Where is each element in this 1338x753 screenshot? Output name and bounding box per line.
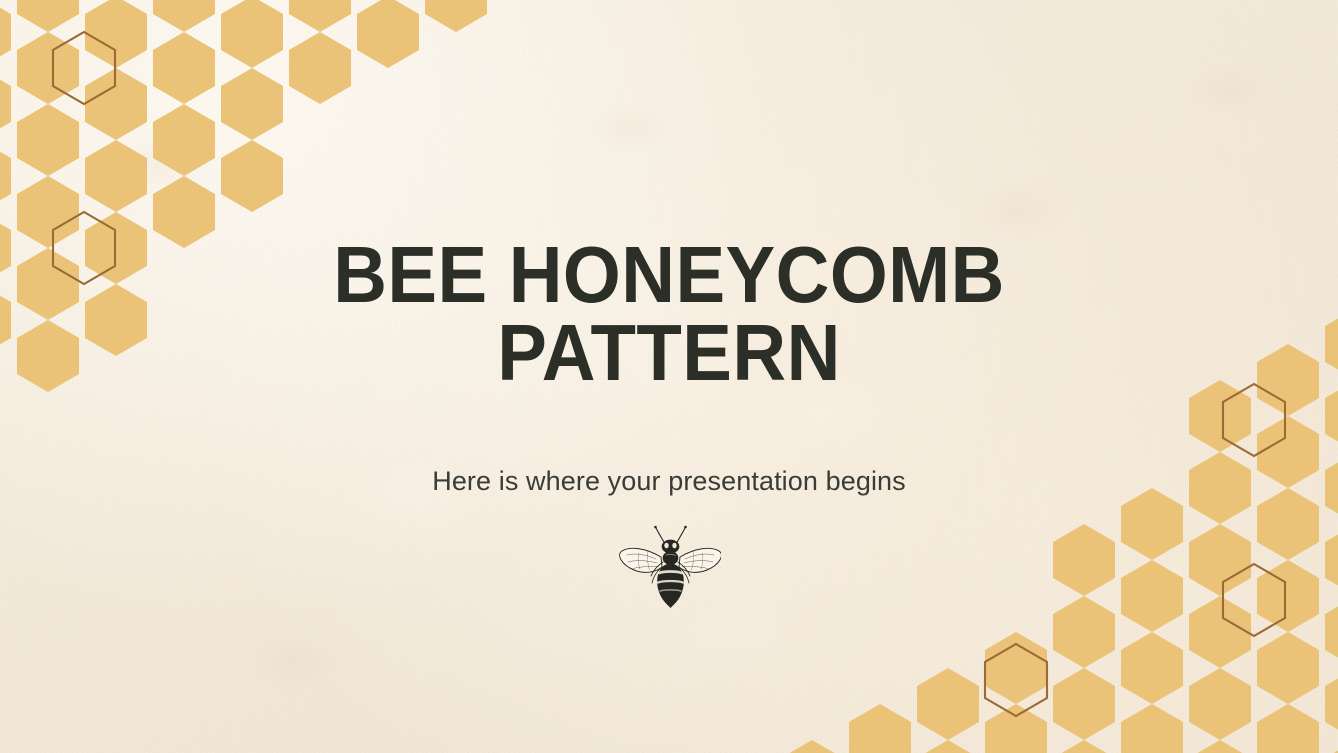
page-title: BEE HONEYCOMB PATTERN: [204, 236, 1134, 391]
slide-subtitle: Here is where your presentation begins: [219, 466, 1119, 497]
presentation-slide: BEE HONEYCOMB PATTERN Here is where your…: [0, 0, 1338, 753]
bee-icon: [617, 524, 721, 610]
slide-content: BEE HONEYCOMB PATTERN Here is where your…: [0, 0, 1338, 753]
title-block: BEE HONEYCOMB PATTERN: [169, 236, 1169, 391]
